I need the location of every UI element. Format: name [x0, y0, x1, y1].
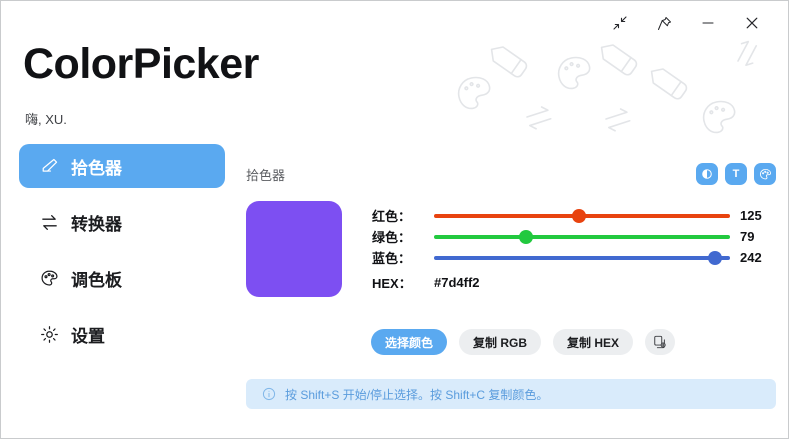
- copy-icon-button[interactable]: [645, 329, 675, 355]
- decorative-watermark: [441, 39, 781, 151]
- blue-channel-row: 蓝色： 242: [372, 247, 776, 268]
- red-knob[interactable]: [572, 209, 586, 223]
- sidebar-item-label: 设置: [71, 322, 105, 347]
- titlebar: [568, 1, 788, 45]
- blue-label: 蓝色：: [372, 248, 434, 267]
- swap-icon: [39, 212, 59, 232]
- channel-sliders: 红色： 125 绿色： 79: [372, 201, 776, 293]
- palette-icon: [39, 268, 59, 288]
- swap-icon: [525, 105, 552, 130]
- palette-icon: [701, 99, 739, 135]
- hex-value: #7d4ff2: [434, 275, 480, 290]
- red-value: 125: [730, 208, 776, 223]
- blue-value: 242: [730, 250, 776, 265]
- palette-icon: [456, 75, 494, 111]
- app-window: ColorPicker 嗨, XU. 拾色器 转换器: [0, 0, 789, 439]
- hex-label: HEX：: [372, 273, 434, 292]
- blue-track: [434, 256, 730, 260]
- sidebar-item-label: 拾色器: [71, 154, 122, 179]
- action-buttons: 选择颜色 复制 RGB 复制 HEX: [246, 329, 776, 355]
- color-swatch[interactable]: [246, 201, 342, 297]
- palette-button[interactable]: [754, 163, 776, 185]
- red-track: [434, 214, 730, 218]
- pencil-icon: [647, 64, 689, 100]
- green-value: 79: [730, 229, 776, 244]
- copy-rgb-button[interactable]: 复制 RGB: [459, 329, 541, 355]
- pencil-icon: [597, 40, 639, 76]
- text-size-button[interactable]: T: [725, 163, 747, 185]
- select-color-button[interactable]: 选择颜色: [371, 329, 447, 355]
- main-panel: 拾色器 T: [246, 161, 776, 409]
- theme-toggle-button[interactable]: [696, 163, 718, 185]
- palette-icon: [556, 55, 594, 91]
- green-knob[interactable]: [519, 230, 533, 244]
- hint-bar: 按 Shift+S 开始/停止选择。按 Shift+C 复制颜色。: [246, 379, 776, 409]
- close-button[interactable]: [730, 5, 774, 41]
- gear-icon: [39, 324, 59, 344]
- hint-text: 按 Shift+S 开始/停止选择。按 Shift+C 复制颜色。: [285, 386, 548, 403]
- pencil-icon: [487, 42, 529, 78]
- red-channel-row: 红色： 125: [372, 205, 776, 226]
- pin-button[interactable]: [642, 5, 686, 41]
- collapse-button[interactable]: [598, 5, 642, 41]
- sidebar-item-converter[interactable]: 转换器: [19, 200, 225, 244]
- greeting-text: 嗨, XU.: [25, 109, 67, 128]
- green-label: 绿色：: [372, 227, 434, 246]
- green-slider[interactable]: [434, 226, 730, 247]
- blue-knob[interactable]: [708, 251, 722, 265]
- hex-row: HEX： #7d4ff2: [372, 272, 776, 293]
- blue-slider[interactable]: [434, 247, 730, 268]
- sidebar: 拾色器 转换器 调色板: [19, 144, 225, 368]
- sidebar-item-picker[interactable]: 拾色器: [19, 144, 225, 188]
- copy-hex-button[interactable]: 复制 HEX: [553, 329, 633, 355]
- sidebar-item-label: 调色板: [71, 266, 122, 291]
- text-size-label: T: [733, 168, 740, 180]
- green-track: [434, 235, 730, 239]
- red-slider[interactable]: [434, 205, 730, 226]
- swap-icon: [604, 107, 631, 132]
- page-title: ColorPicker: [23, 43, 259, 86]
- info-icon: [262, 387, 276, 401]
- red-label: 红色：: [372, 206, 434, 225]
- sidebar-item-palette[interactable]: 调色板: [19, 256, 225, 300]
- minimize-button[interactable]: [686, 5, 730, 41]
- picker-row: 红色： 125 绿色： 79: [246, 201, 776, 297]
- sidebar-item-settings[interactable]: 设置: [19, 312, 225, 356]
- section-title: 拾色器: [246, 165, 285, 184]
- quick-actions: T: [696, 163, 776, 185]
- eyedropper-icon: [39, 156, 59, 176]
- green-channel-row: 绿色： 79: [372, 226, 776, 247]
- sidebar-item-label: 转换器: [71, 210, 122, 235]
- section-header: 拾色器 T: [246, 161, 776, 187]
